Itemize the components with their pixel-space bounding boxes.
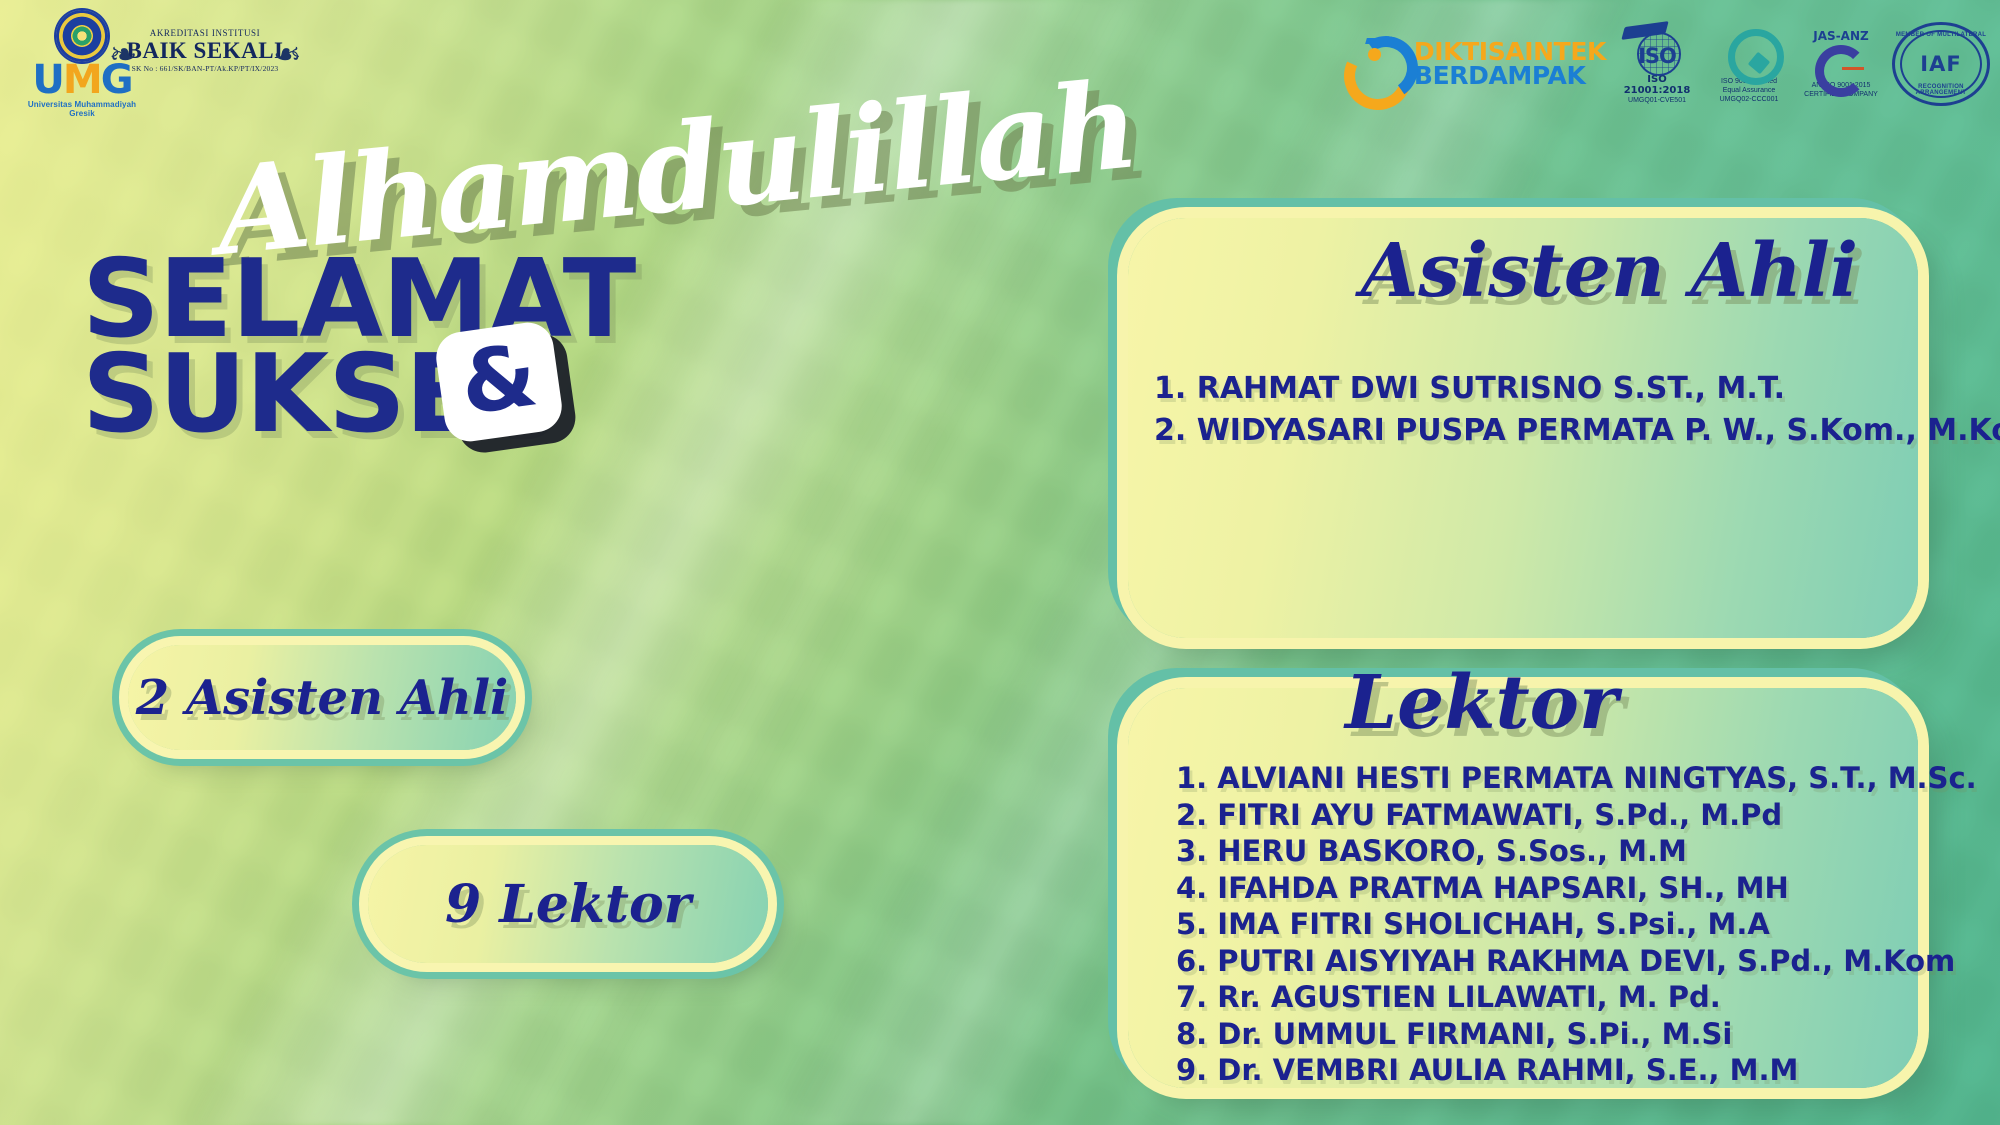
poster-canvas: UMG Universitas Muhammadiyah Gresik ❧ ❧ … <box>0 0 2000 1125</box>
equal-assurance-q-icon <box>1708 25 1790 77</box>
accreditation-sk-number: SK No : 661/SK/BAN-PT/Ak.KP/PT/IX/2023 <box>125 64 285 73</box>
card-asisten-ahli: Asisten Ahli 1. RAHMAT DWI SUTRISNO S.ST… <box>1128 218 1918 638</box>
list-item: 5. IMA FITRI SHOLICHAH, S.Psi., M.A <box>1176 906 1977 943</box>
list-item: 1. ALVIANI HESTI PERMATA NINGTYAS, S.T.,… <box>1176 760 1977 797</box>
iso-21001-code: UMGQ01-CVE501 <box>1616 96 1698 105</box>
jas-anz-title: JAS-ANZ <box>1800 29 1882 43</box>
accreditation-label: AKREDITASI INSTITUSI <box>125 28 285 38</box>
iaf-top-text: MEMBER OF MULTILATERAL <box>1895 32 1987 38</box>
iso-globe-icon: ISO <box>1616 24 1698 74</box>
list-item: 1. RAHMAT DWI SUTRISNO S.ST., M.T. <box>1154 368 2000 410</box>
umg-tagline: Universitas Muhammadiyah Gresik <box>22 100 142 118</box>
list-item: 6. PUTRI AISYIYAH RAKHMA DEVI, S.Pd., M.… <box>1176 943 1977 980</box>
pill-asisten-ahli-label: 2 Asisten Ahli <box>136 670 509 726</box>
iso-9001-subtitle: Equal Assurance <box>1708 86 1790 95</box>
list-item: 2. FITRI AYU FATMAWATI, S.Pd., M.Pd <box>1176 797 1977 834</box>
laurel-right-icon: ❧ <box>273 38 302 72</box>
accreditation-grade: BAIK SEKALI <box>125 38 285 64</box>
umg-crest-icon <box>56 10 108 62</box>
iaf-bottom-text: RECOGNITION ARRANGEMENT <box>1895 84 1987 96</box>
diktisaintek-line2: BERDAMPAK <box>1414 64 1606 89</box>
lektor-name-list: 1. ALVIANI HESTI PERMATA NINGTYAS, S.T.,… <box>1176 760 1977 1089</box>
pill-lektor: 9 Lektor <box>368 845 768 963</box>
ampersand-glyph: & <box>456 332 542 428</box>
jas-anz-icon: JAS-ANZ <box>1800 29 1882 81</box>
list-item: 2. WIDYASARI PUSPA PERMATA P. W., S.Kom.… <box>1154 410 2000 452</box>
iso-21001-badge: ISO ISO 21001:2018 UMGQ01-CVE501 <box>1616 24 1698 105</box>
list-item: 3. HERU BASKORO, S.Sos., M.M <box>1176 833 1977 870</box>
pill-asisten-ahli: 2 Asisten Ahli <box>128 645 516 750</box>
pill-lektor-label: 9 Lektor <box>445 874 691 935</box>
card-asisten-ahli-title: Asisten Ahli <box>1361 228 1858 314</box>
laurel-left-icon: ❧ <box>109 38 138 72</box>
card-lektor-title: Lektor <box>1345 660 1618 746</box>
card-lektor: Lektor 1. ALVIANI HESTI PERMATA NINGTYAS… <box>1128 688 1918 1088</box>
list-item: 4. IFAHDA PRATMA HAPSARI, SH., MH <box>1176 870 1977 907</box>
list-item: 8. Dr. UMMUL FIRMANI, S.Pi., M.Si <box>1176 1016 1977 1053</box>
iso-9001-equal-assurance-badge: ISO 9001 certified Equal Assurance UMGQ0… <box>1708 25 1790 104</box>
jas-anz-badge: JAS-ANZ AN ISO 9001:2015 CERTIFIED COMPA… <box>1800 29 1882 99</box>
iso-9001-code: UMGQ02-CCC001 <box>1708 95 1790 104</box>
asisten-ahli-name-list: 1. RAHMAT DWI SUTRISNO S.ST., M.T.2. WID… <box>1154 368 2000 452</box>
iaf-badge: MEMBER OF MULTILATERAL IAF RECOGNITION A… <box>1892 22 1990 106</box>
right-logo-group: DIKTISAINTEK BERDAMPAK ISO ISO 21001:201… <box>1342 8 1990 120</box>
diktisaintek-swoosh-icon <box>1342 32 1406 96</box>
list-item: 7. Rr. AGUSTIEN LILAWATI, M. Pd. <box>1176 979 1977 1016</box>
diktisaintek-logo: DIKTISAINTEK BERDAMPAK <box>1342 32 1606 96</box>
iaf-title: IAF <box>1920 52 1961 76</box>
diktisaintek-wordmark: DIKTISAINTEK BERDAMPAK <box>1414 40 1606 89</box>
ampersand-badge: & <box>433 319 565 444</box>
iso-21001-title: ISO 21001:2018 <box>1616 74 1698 96</box>
accreditation-badge: ❧ ❧ AKREDITASI INSTITUSI BAIK SEKALI SK … <box>125 28 285 100</box>
list-item: 9. Dr. VEMBRI AULIA RAHMI, S.E., M.M <box>1176 1052 1977 1089</box>
